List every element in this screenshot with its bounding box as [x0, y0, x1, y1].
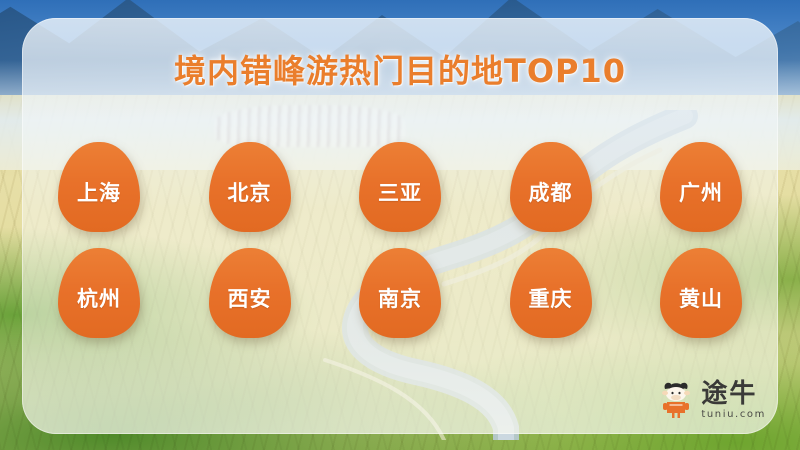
destination-label: 重庆 [529, 283, 573, 313]
brand-logo[interactable]: 途牛 tuniu.com [659, 380, 766, 420]
destination-row-1: 上海 北京 三亚 成都 广州 [58, 142, 742, 232]
logo-url: tuniu.com [701, 410, 766, 420]
destination-label: 黄山 [679, 283, 723, 313]
destination-label: 南京 [378, 283, 422, 313]
destination-badge-5[interactable]: 广州 [660, 142, 742, 232]
destination-label: 西安 [228, 283, 272, 313]
destination-badge-4[interactable]: 成都 [510, 142, 592, 232]
destination-label: 三亚 [378, 177, 422, 207]
cow-mascot-icon [659, 380, 693, 420]
destination-label: 成都 [529, 177, 573, 207]
destination-badge-10[interactable]: 黄山 [660, 248, 742, 338]
destination-badge-3[interactable]: 三亚 [359, 142, 441, 232]
infographic-card: 境内错峰游热门目的地TOP10 上海 北京 三亚 成都 广州 杭州 [0, 0, 800, 450]
destination-row-2: 杭州 西安 南京 重庆 黄山 [58, 248, 742, 338]
destination-badge-1[interactable]: 上海 [58, 142, 140, 232]
destination-grid: 上海 北京 三亚 成都 广州 杭州 西安 南京 [58, 142, 742, 338]
destination-badge-7[interactable]: 西安 [209, 248, 291, 338]
destination-badge-2[interactable]: 北京 [209, 142, 291, 232]
destination-label: 北京 [228, 177, 272, 207]
logo-brand-cn: 途牛 [701, 381, 766, 407]
page-title: 境内错峰游热门目的地TOP10 [0, 46, 800, 92]
destination-label: 广州 [679, 177, 723, 207]
destination-badge-8[interactable]: 南京 [359, 248, 441, 338]
destination-label: 杭州 [77, 283, 121, 313]
destination-badge-9[interactable]: 重庆 [510, 248, 592, 338]
destination-label: 上海 [77, 177, 121, 207]
logo-wordmark: 途牛 tuniu.com [701, 381, 766, 420]
destination-badge-6[interactable]: 杭州 [58, 248, 140, 338]
